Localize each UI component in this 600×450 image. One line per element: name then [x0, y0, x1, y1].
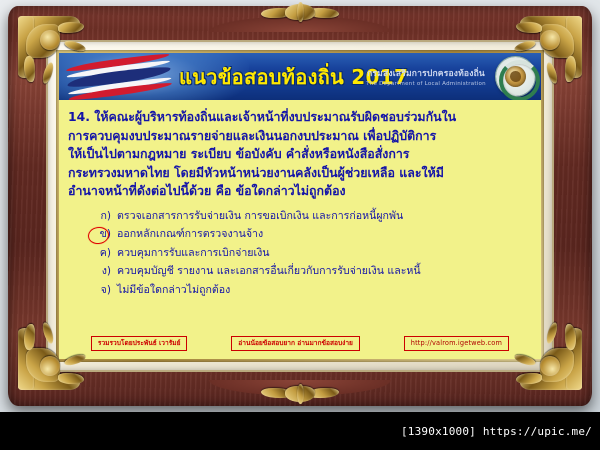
choice-kho[interactable]: ข) ออกหลักเกณฑ์การตรวจงานจ้าง — [89, 226, 541, 244]
choice-key: ข) — [89, 226, 117, 244]
credit-website-link[interactable]: http://valrom.igetweb.com — [404, 336, 509, 351]
poster-content: แนวข้อสอบท้องถิ่น 2017 กรมส่งเสริมการปกค… — [59, 53, 541, 359]
department-name-thai: กรมส่งเสริมการปกครองท้องถิ่น — [331, 69, 521, 80]
choice-label: ไม่มีข้อใดกล่าวไม่ถูกต้อง — [117, 282, 230, 300]
choice-ka[interactable]: ก) ตรวจเอกสารการรับจ่ายเงิน การขอเบิกเงิ… — [89, 208, 541, 226]
credit-author-box: รวมรวบโดยประพันธ์ เวารัมย์ — [91, 336, 188, 351]
choice-key: ก) — [89, 208, 117, 226]
choice-ngo[interactable]: ง) ควบคุมบัญชี รายงาน และเอกสารอื่นเกี่ย… — [89, 263, 541, 281]
question-line: การควบคุมงบประมาณรายจ่ายและเงินนอกงบประม… — [68, 127, 532, 146]
choice-label: ออกหลักเกณฑ์การตรวจงานจ้าง — [117, 226, 263, 244]
choice-kho-khwai[interactable]: ค) ควบคุมการรับและการเบิกจ่ายเงิน — [89, 245, 541, 263]
caption-text: [1390x1000] https://upic.me/ — [401, 425, 592, 438]
choice-key: ค) — [89, 245, 117, 263]
choice-key: ง) — [89, 263, 117, 281]
answer-circle-marker — [87, 226, 110, 246]
header-banner: แนวข้อสอบท้องถิ่น 2017 กรมส่งเสริมการปกค… — [59, 53, 541, 100]
choice-label: ควบคุมบัญชี รายงาน และเอกสารอื่นเกี่ยวกั… — [117, 263, 421, 281]
answer-choices-list: ก) ตรวจเอกสารการรับจ่ายเงิน การขอเบิกเงิ… — [89, 208, 541, 300]
credits-row: รวมรวบโดยประพันธ์ เวารัมย์ อ่านน้อยข้อสอ… — [59, 336, 541, 351]
image-caption-bar: [1390x1000] https://upic.me/ — [0, 412, 600, 450]
question-line: กระทรวงมหาดไทย โดยมีหัวหน้าหน่วยงานคลังเ… — [68, 164, 532, 183]
department-name-english: The Department of Local Administration — [331, 80, 521, 88]
screenshot-root: แนวข้อสอบท้องถิ่น 2017 กรมส่งเสริมการปกค… — [0, 0, 600, 450]
choice-key: จ) — [89, 282, 117, 300]
credit-slogan-box: อ่านน้อยข้อสอบยาก อ่านมากข้อสอบง่าย — [231, 336, 360, 351]
question-line: ให้เป็นไปตามกฎหมาย ระเบียบ ข้อบังคับ คำส… — [68, 145, 532, 164]
question-line: 14. ให้คณะผู้บริหารท้องถิ่นและเจ้าหน้าที… — [68, 108, 532, 127]
choice-label: ควบคุมการรับและการเบิกจ่ายเงิน — [117, 245, 270, 263]
choice-label: ตรวจเอกสารการรับจ่ายเงิน การขอเบิกเงิน แ… — [117, 208, 403, 226]
question-text: 14. ให้คณะผู้บริหารท้องถิ่นและเจ้าหน้าที… — [68, 108, 532, 201]
department-seal-icon — [496, 57, 535, 96]
department-name-block: กรมส่งเสริมการปกครองท้องถิ่น The Departm… — [331, 69, 521, 88]
question-line: อำนาจหน้าที่ดังต่อไปนี้ด้วย คือ ข้อใดกล่… — [68, 182, 532, 201]
choice-cho[interactable]: จ) ไม่มีข้อใดกล่าวไม่ถูกต้อง — [89, 282, 541, 300]
